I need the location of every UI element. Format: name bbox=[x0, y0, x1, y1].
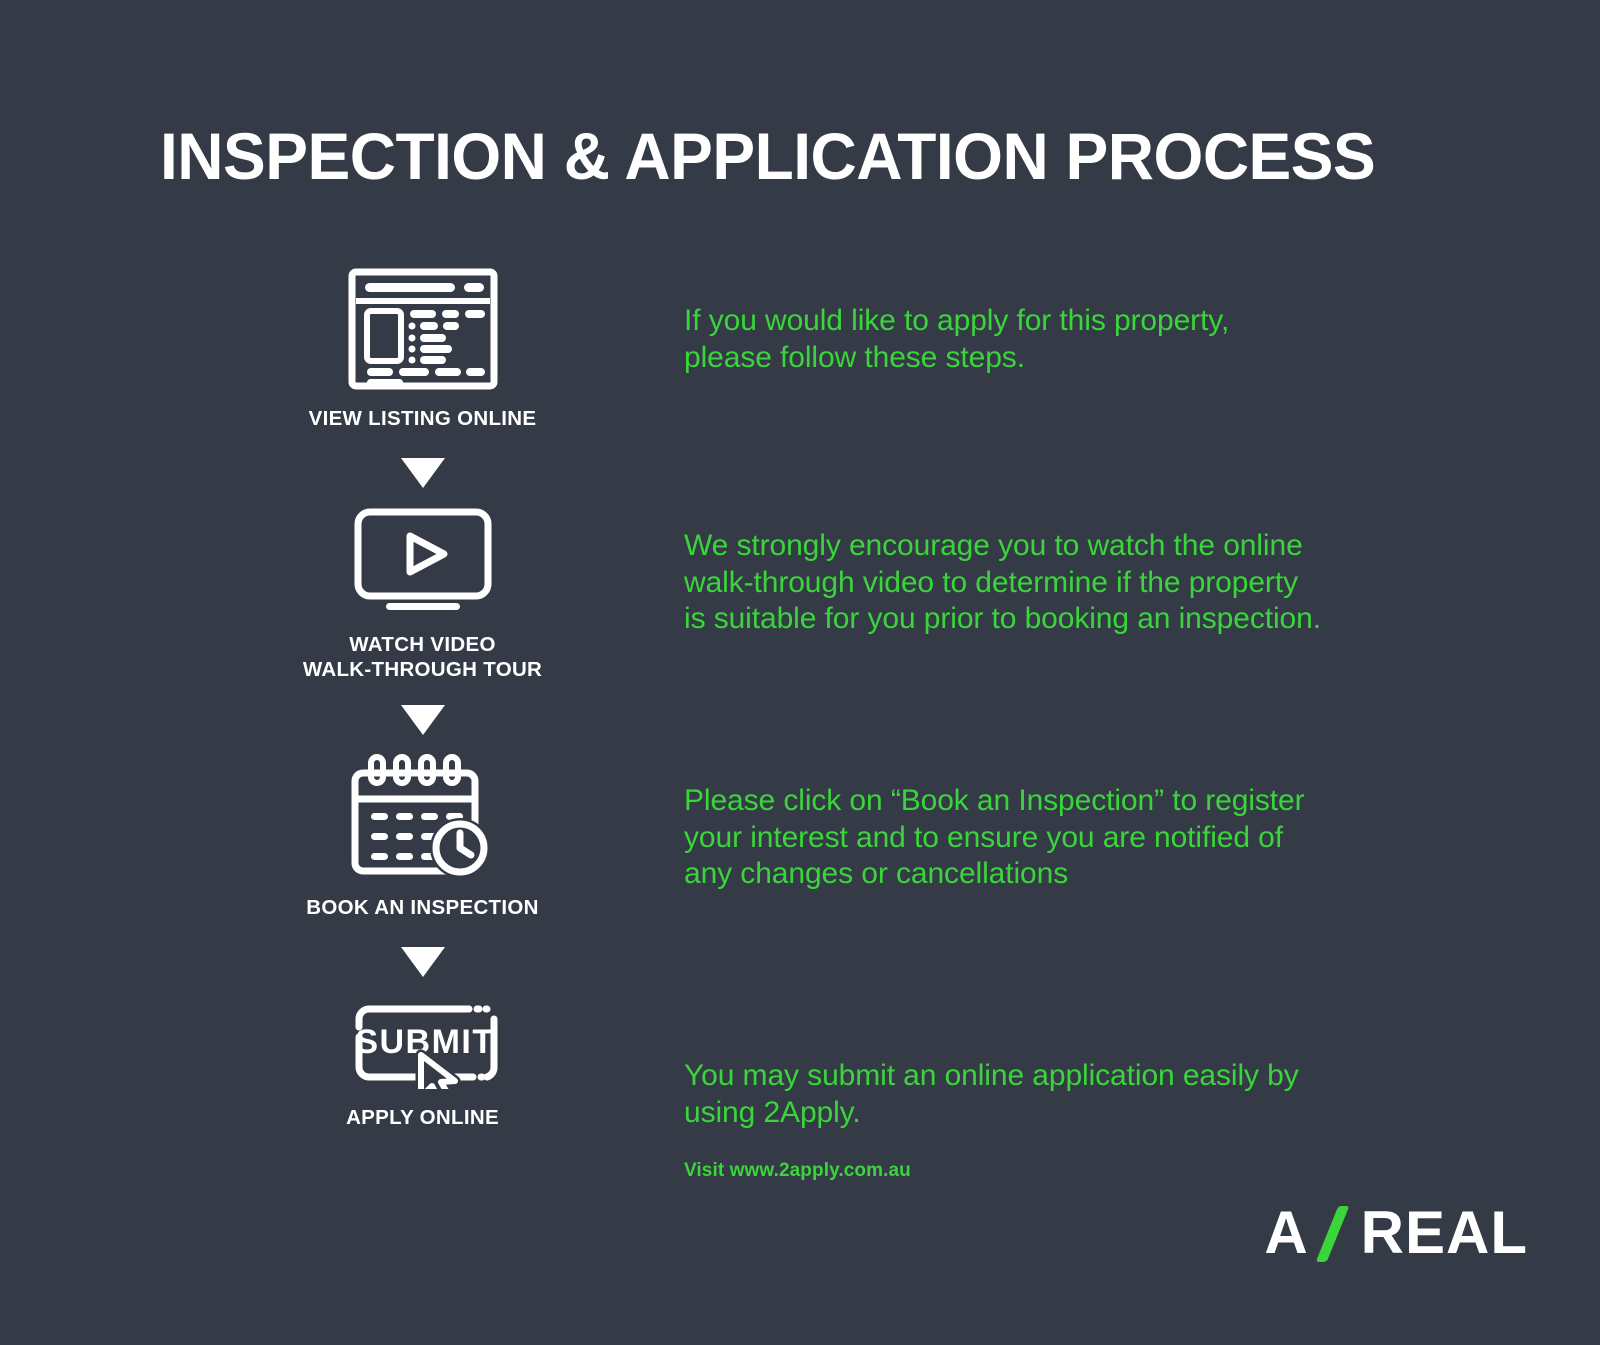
paragraph-watch-video: We strongly encourage you to watch the o… bbox=[684, 528, 1321, 638]
submit-button-cursor-icon: SUBMIT bbox=[347, 997, 499, 1089]
slash-icon bbox=[1317, 1204, 1351, 1262]
step-label-view-listing-online: VIEW LISTING ONLINE bbox=[309, 406, 537, 432]
step-label-book-inspection: BOOK AN INSPECTION bbox=[306, 895, 538, 921]
step-apply-online: SUBMIT APPLY ONLINE bbox=[250, 997, 595, 1131]
video-play-monitor-icon bbox=[348, 506, 498, 616]
paragraph-apply-intro: If you would like to apply for this prop… bbox=[684, 303, 1229, 376]
logo-word-real: REAL bbox=[1361, 1198, 1528, 1267]
process-steps-column: VIEW LISTING ONLINE WATCH VIDEO WALK-THR… bbox=[250, 268, 595, 1130]
step-watch-video: WATCH VIDEO WALK-THROUGH TOUR bbox=[250, 506, 595, 683]
browser-listing-icon bbox=[348, 268, 498, 390]
step-label-watch-video: WATCH VIDEO WALK-THROUGH TOUR bbox=[303, 632, 542, 683]
visit-website-link[interactable]: Visit www.2apply.com.au bbox=[684, 1160, 911, 1182]
down-triangle-icon bbox=[401, 705, 445, 735]
brand-logo: A REAL bbox=[1264, 1198, 1528, 1267]
paragraph-apply-online: You may submit an online application eas… bbox=[684, 1058, 1299, 1131]
infographic-poster: INSPECTION & APPLICATION PROCESS bbox=[0, 0, 1600, 1345]
paragraph-book-inspection: Please click on “Book an Inspection” to … bbox=[684, 783, 1305, 893]
down-triangle-icon bbox=[401, 947, 445, 977]
down-triangle-icon bbox=[401, 458, 445, 488]
step-label-apply-online: APPLY ONLINE bbox=[346, 1105, 499, 1131]
logo-letter-a: A bbox=[1264, 1198, 1308, 1267]
step-view-listing-online: VIEW LISTING ONLINE bbox=[250, 268, 595, 432]
page-title: INSPECTION & APPLICATION PROCESS bbox=[160, 118, 1375, 194]
calendar-clock-icon bbox=[347, 751, 499, 879]
step-book-inspection: BOOK AN INSPECTION bbox=[250, 751, 595, 921]
